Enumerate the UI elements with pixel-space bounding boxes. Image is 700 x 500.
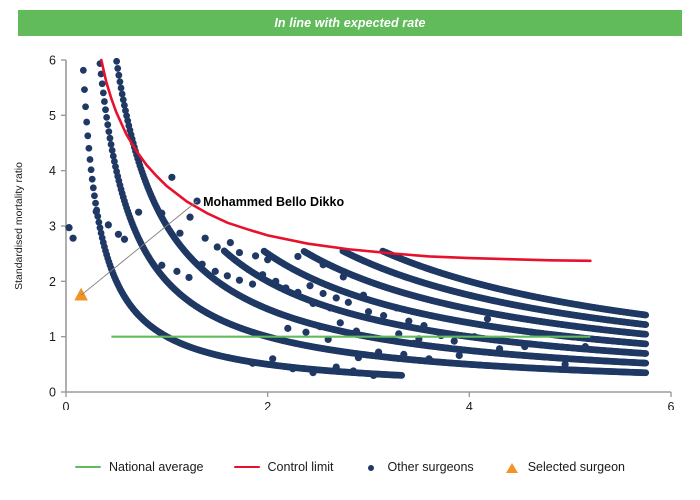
data-point (360, 292, 367, 299)
data-point (176, 230, 183, 237)
data-point (353, 328, 360, 335)
status-banner: In line with expected rate (18, 10, 682, 36)
data-point (420, 322, 427, 329)
legend-item-selected-surgeon[interactable]: Selected surgeon (504, 460, 625, 474)
data-point (282, 284, 289, 291)
data-point (496, 345, 503, 352)
data-point (105, 221, 112, 228)
legend-label: Selected surgeon (528, 460, 625, 474)
data-point (456, 352, 463, 359)
data-point (236, 277, 243, 284)
data-point (69, 235, 76, 242)
data-point (302, 329, 309, 336)
chart-legend: National average Control limit Other sur… (0, 452, 700, 482)
data-point (333, 294, 340, 301)
svg-text:Standardised mortality ratio: Standardised mortality ratio (13, 162, 25, 290)
legend-label: Other surgeons (388, 460, 474, 474)
data-point (158, 210, 165, 217)
data-point (317, 323, 324, 330)
data-point (212, 268, 219, 275)
svg-text:2: 2 (49, 275, 56, 289)
svg-text:6: 6 (668, 400, 675, 410)
data-point (284, 325, 291, 332)
data-point (236, 249, 243, 256)
data-point (370, 372, 377, 379)
data-point (327, 304, 334, 311)
data-point (224, 272, 231, 279)
data-point (294, 289, 301, 296)
data-point (405, 318, 412, 325)
legend-label: National average (109, 460, 204, 474)
data-point (264, 256, 271, 263)
data-point (320, 261, 327, 268)
data-point (380, 312, 387, 319)
data-point (289, 365, 296, 372)
data-point (294, 253, 301, 260)
data-point (337, 319, 344, 326)
data-point (214, 243, 221, 250)
data-point (400, 351, 407, 358)
data-point (451, 337, 458, 344)
legend-line-green-icon (75, 461, 101, 473)
data-point (173, 268, 180, 275)
surgeon-name-annotation: Mohammed Bello Dikko (203, 195, 344, 209)
data-point (365, 308, 372, 315)
data-point (350, 367, 357, 374)
data-point (252, 252, 259, 259)
data-point (375, 349, 382, 356)
svg-text:4: 4 (49, 164, 56, 178)
svg-text:3: 3 (49, 220, 56, 234)
data-point (333, 364, 340, 371)
data-point (158, 262, 165, 269)
data-point (202, 235, 209, 242)
data-point (562, 361, 569, 368)
data-point (65, 224, 72, 231)
data-point (320, 290, 327, 297)
data-point (93, 208, 100, 215)
data-point (521, 343, 528, 350)
svg-text:0: 0 (49, 386, 56, 400)
chart-area: 01234560246Expected mortalityStandardise… (0, 40, 700, 410)
status-banner-text: In line with expected rate (274, 16, 425, 30)
data-point (259, 271, 266, 278)
data-point (227, 239, 234, 246)
data-point (309, 300, 316, 307)
legend-label: Control limit (268, 460, 334, 474)
legend-line-red-icon (234, 461, 260, 473)
data-point (121, 236, 128, 243)
data-point (306, 282, 313, 289)
data-point (168, 174, 175, 181)
data-point (272, 278, 279, 285)
funnel-plot-svg: 01234560246Expected mortalityStandardise… (0, 40, 700, 410)
svg-text:6: 6 (49, 54, 56, 68)
data-point (355, 354, 362, 361)
legend-dot-navy-icon (364, 461, 380, 473)
svg-text:0: 0 (63, 400, 70, 410)
data-point (185, 274, 192, 281)
data-point (186, 214, 193, 221)
svg-text:5: 5 (49, 109, 56, 123)
data-point (340, 273, 347, 280)
data-point (309, 369, 316, 376)
legend-item-control-limit[interactable]: Control limit (234, 460, 334, 474)
data-point (135, 209, 142, 216)
data-point (115, 231, 122, 238)
funnel-contour-layer (80, 58, 649, 379)
legend-triangle-orange-icon (504, 461, 520, 473)
data-point (410, 340, 417, 347)
legend-item-other-surgeons[interactable]: Other surgeons (364, 460, 474, 474)
svg-text:4: 4 (466, 400, 473, 410)
legend-item-national-average[interactable]: National average (75, 460, 204, 474)
data-point (484, 315, 491, 322)
data-point (269, 355, 276, 362)
data-point (199, 261, 206, 268)
data-point (393, 304, 400, 311)
selected-surgeon-marker[interactable] (75, 288, 88, 300)
data-point (582, 343, 589, 350)
data-point (249, 360, 256, 367)
data-point (438, 332, 445, 339)
svg-text:1: 1 (49, 330, 56, 344)
data-point (425, 355, 432, 362)
data-point (249, 281, 256, 288)
selected-surgeon-triangle (75, 288, 88, 300)
data-point (345, 299, 352, 306)
funnel-plot-page: In line with expected rate 01234560246Ex… (0, 0, 700, 500)
svg-text:2: 2 (264, 400, 271, 410)
control-limit-curve (101, 60, 590, 261)
